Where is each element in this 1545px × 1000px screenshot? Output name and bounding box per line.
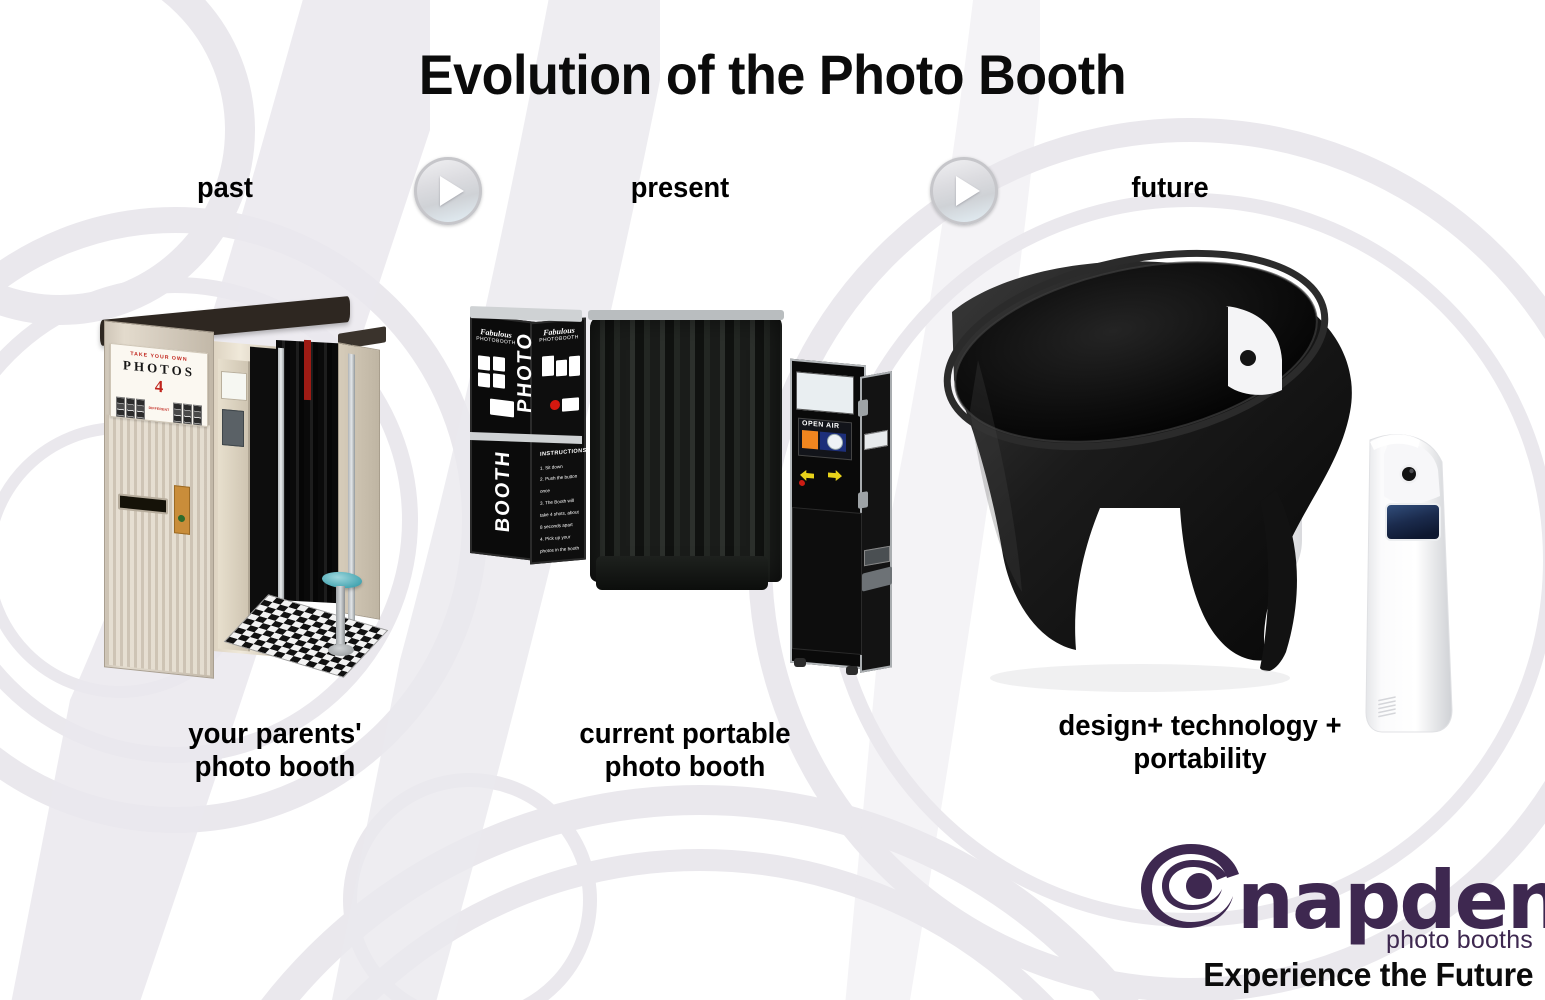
pose-icon-3 (478, 372, 490, 387)
display-dial-icon (827, 433, 843, 450)
photo-strip-icon (183, 404, 192, 428)
instructions-block: INSTRUCTIONS: 1. Sit down 2. Push the bu… (540, 444, 582, 558)
camera-lens-icon (1402, 467, 1416, 481)
look-here-icon-mid (556, 360, 567, 377)
pod-screen (1386, 504, 1440, 540)
kiosk-vertical-booth: BOOTH (492, 449, 515, 534)
curtain-rail (588, 310, 784, 320)
portable-photo-booth-image: Fabulous PHOTOBOOTH PHOTO BOOTH Fabulous… (462, 300, 782, 600)
case-lower-body (792, 507, 862, 655)
photo-strip-icon (193, 405, 202, 428)
case-side (860, 371, 892, 673)
logo-tagline: Experience the Future (1203, 956, 1533, 994)
display-label: OPEN AIR (802, 420, 840, 430)
booth-stool-base (328, 644, 354, 656)
pose-icon-2 (493, 356, 505, 371)
vintage-photo-booth-image: TAKE YOUR OWN PHOTOS 4 DIFFERENT POSES 2… (90, 300, 390, 690)
logo-wordmark-row: napden (1135, 838, 1545, 934)
sign-number: 4 (155, 377, 164, 397)
instruction-item: 4. Pick up your photos in the booth (540, 530, 582, 558)
phase-label-future: future (1062, 172, 1278, 205)
case-wheel-left (794, 658, 806, 667)
pose-icon-1 (478, 355, 490, 370)
look-here-icon-left (542, 355, 554, 376)
logo-subtitle: photo booths (1386, 926, 1533, 955)
logo-wordmark: napden (1237, 868, 1545, 934)
booth-curtain-enclosure (590, 314, 782, 582)
kiosk-control-display: OPEN AIR (798, 418, 852, 461)
booth-stool-leg (336, 586, 345, 650)
case-latch-top (858, 399, 868, 417)
case-latch-bottom (858, 491, 868, 509)
white-pod-shape (1348, 410, 1478, 740)
case-wheel-right (846, 666, 858, 675)
caption-future: design+ technology + portability (972, 710, 1428, 776)
booth-red-trim (304, 340, 311, 400)
display-orange-block (802, 430, 818, 449)
photo-strip-icon (173, 402, 182, 427)
instruction-plate (174, 485, 190, 535)
booth-price-sign: TAKE YOUR OWN PHOTOS 4 DIFFERENT POSES 2… (110, 343, 208, 427)
caption-present: current portable photo booth (500, 718, 871, 784)
snapden-s-icon (1135, 838, 1247, 934)
caption-past: your parents' photo booth (71, 718, 480, 784)
page-title: Evolution of the Photo Booth (54, 42, 1491, 107)
photo-output-icon (562, 397, 579, 411)
future-booth-shape (930, 240, 1390, 700)
phase-label-past: past (126, 172, 323, 205)
play-icon[interactable] (930, 157, 998, 225)
photo-output-icon (490, 399, 514, 418)
future-kiosk-pod-image (1348, 410, 1478, 740)
infographic-canvas: Evolution of the Photo Booth past presen… (0, 0, 1545, 1000)
booth-ribbed-metal (106, 415, 210, 676)
phase-label-present: present (577, 172, 784, 205)
kiosk-screen (796, 371, 854, 414)
booth-post-right (348, 353, 355, 644)
look-here-icon-right (569, 356, 580, 377)
booth-window (221, 371, 247, 401)
booth-door (218, 359, 250, 652)
pose-icon-4 (493, 373, 505, 388)
play-icon[interactable] (414, 157, 482, 225)
booth-monitor (222, 409, 244, 447)
instruction-item: 3. The Booth will take 4 shots, about 8 … (540, 495, 582, 534)
status-led-icon (799, 480, 805, 487)
future-photo-booth-image (930, 240, 1390, 700)
kiosk-vertical-photo: PHOTO (514, 331, 537, 415)
snapden-logo[interactable]: napden photo booths Experience the Futur… (1135, 838, 1535, 993)
portable-kiosk-flightcase-image: OPEN AIR (784, 352, 894, 682)
